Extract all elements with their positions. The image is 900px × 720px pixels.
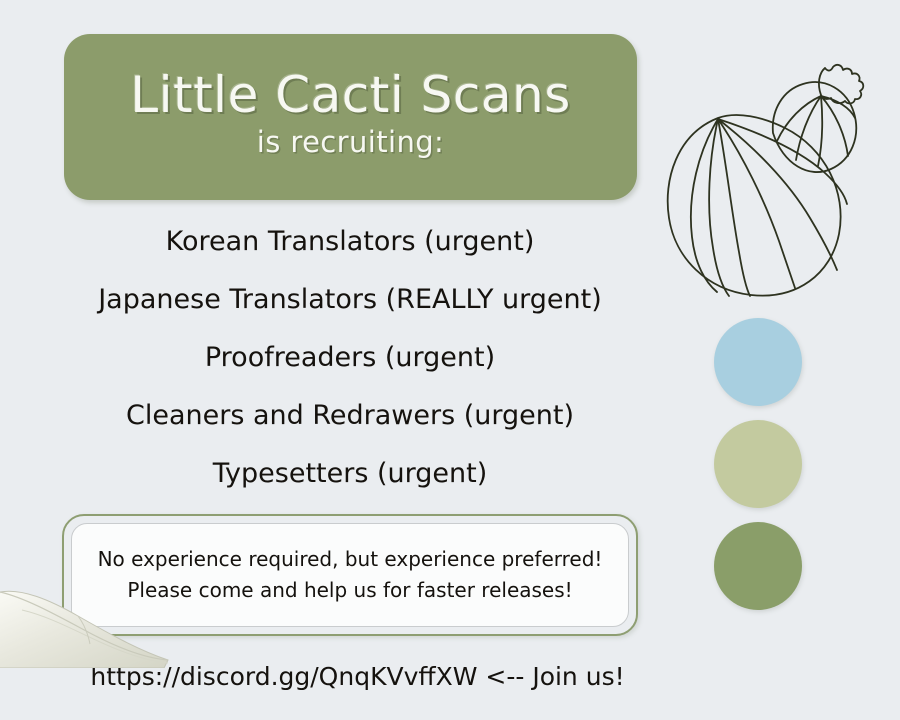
role-item-korean-translators: Korean Translators (urgent) bbox=[166, 212, 535, 270]
role-item-japanese-translators: Japanese Translators (REALLY urgent) bbox=[98, 270, 602, 328]
role-item-typesetters: Typesetters (urgent) bbox=[213, 444, 487, 502]
role-item-proofreaders: Proofreaders (urgent) bbox=[205, 328, 495, 386]
crumpled-ribbon-decoration bbox=[0, 558, 182, 668]
page-subtitle: is recruiting: bbox=[257, 125, 444, 159]
role-item-cleaners-redrawers: Cleaners and Redrawers (urgent) bbox=[126, 386, 574, 444]
header-banner: Little Cacti Scans is recruiting: bbox=[64, 34, 637, 200]
palette-swatch-pale-sage bbox=[714, 420, 802, 508]
palette-swatch-olive-green bbox=[714, 522, 802, 610]
roles-list: Korean Translators (urgent) Japanese Tra… bbox=[40, 212, 660, 502]
recruitment-poster: Little Cacti Scans is recruiting: Korean… bbox=[0, 0, 900, 720]
cactus-icon bbox=[655, 38, 885, 303]
palette-swatch-light-blue bbox=[714, 318, 802, 406]
page-title: Little Cacti Scans bbox=[130, 69, 571, 122]
note-line-invitation: Please come and help us for faster relea… bbox=[127, 575, 572, 606]
